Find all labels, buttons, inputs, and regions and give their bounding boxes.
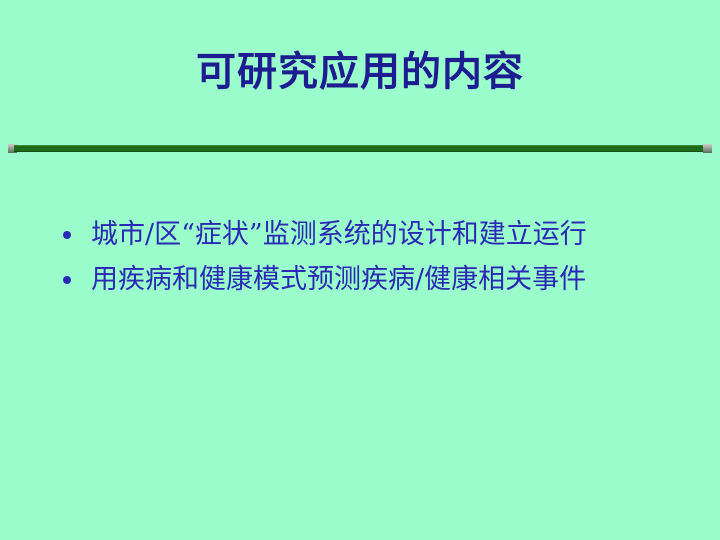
bullet-item-label: 用疾病和健康模式预测疾病/健康相关事件 [91,258,695,301]
list-item: 城市/区“症状”监测系统的设计和建立运行 [55,213,695,256]
list-item: 用疾病和健康模式预测疾病/健康相关事件 [55,258,695,301]
bullet-item-label: 城市/区“症状”监测系统的设计和建立运行 [91,213,695,256]
bullet-point-icon [63,231,71,239]
page-title: 可研究应用的内容 [0,48,720,96]
divider-right-cap [703,144,712,153]
title-divider [8,144,712,153]
bullet-point-icon [63,276,71,284]
bullet-list: 城市/区“症状”监测系统的设计和建立运行 用疾病和健康模式预测疾病/健康相关事件 [55,213,695,303]
divider-bar [14,145,706,152]
presentation-slide: 可研究应用的内容 城市/区“症状”监测系统的设计和建立运行 用疾病和健康模式预测… [0,0,720,540]
